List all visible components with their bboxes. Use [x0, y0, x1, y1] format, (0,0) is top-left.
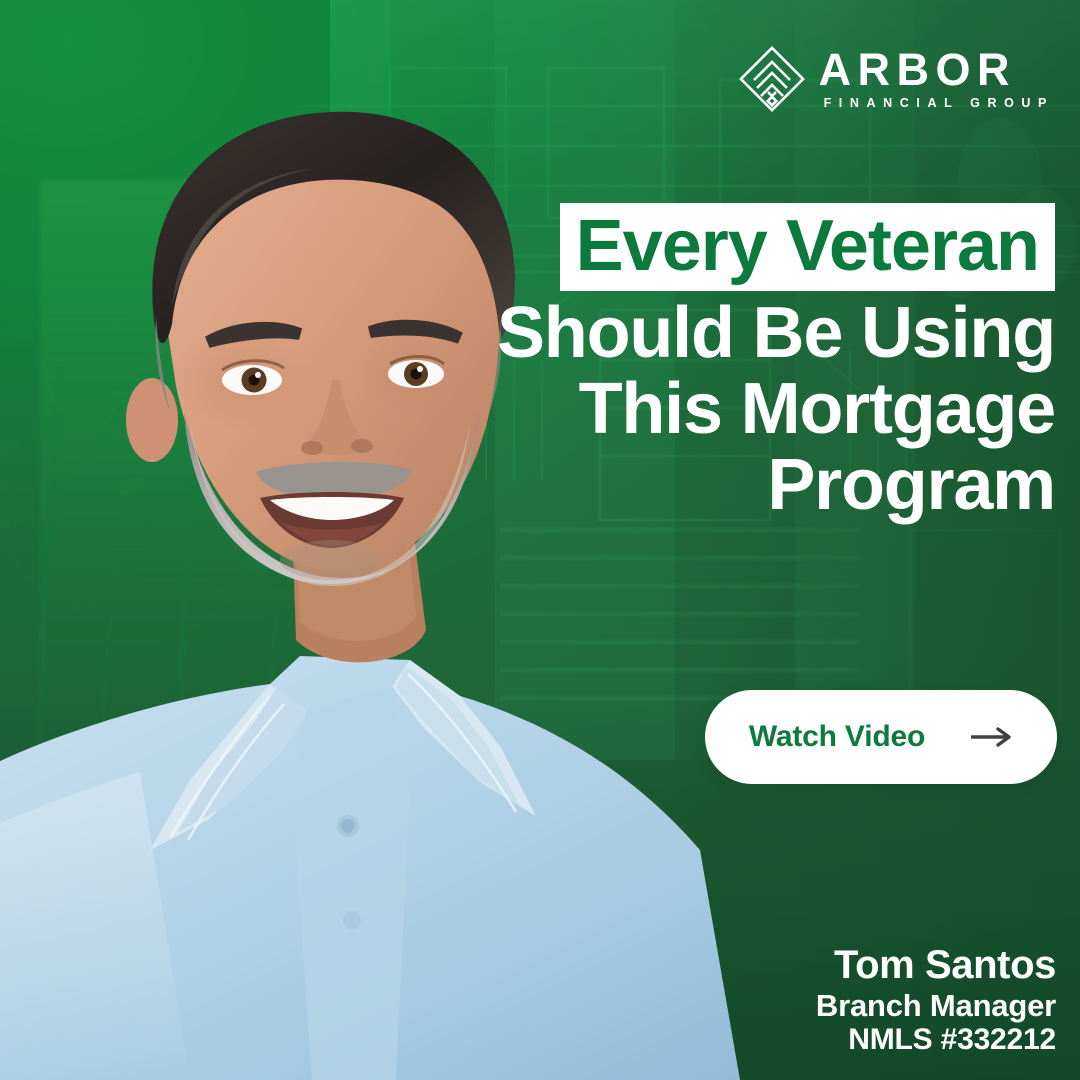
headline-lines-rest: Should Be Using This Mortgage Program	[415, 297, 1055, 521]
headline-line-2: Should Be Using	[415, 297, 1055, 369]
headline-line-1-wrap: Every Veteran	[415, 203, 1055, 291]
arbor-diamond-chevron-icon	[739, 46, 805, 112]
agent-name: Tom Santos	[816, 943, 1056, 988]
headline-line-4: Program	[415, 449, 1055, 521]
watch-video-label: Watch Video	[749, 720, 925, 754]
agent-nmls-number: NMLS #332212	[816, 1023, 1056, 1058]
agent-role: Branch Manager	[816, 988, 1056, 1023]
logo-name: ARBOR	[819, 48, 1054, 91]
social-promo-card: 3241	[0, 0, 1080, 1080]
agent-portrait-photo	[0, 20, 780, 1080]
logo-tagline: FINANCIAL GROUP	[819, 97, 1054, 110]
arrow-right-icon	[971, 726, 1013, 748]
headline: Every Veteran Should Be Using This Mortg…	[415, 203, 1055, 521]
arbor-logo[interactable]: ARBOR FINANCIAL GROUP	[739, 46, 1054, 112]
logo-wordmark: ARBOR FINANCIAL GROUP	[819, 48, 1054, 110]
watch-video-button[interactable]: Watch Video	[705, 690, 1057, 784]
agent-info-block: Tom Santos Branch Manager NMLS #332212	[816, 943, 1056, 1058]
headline-line-3: This Mortgage	[415, 373, 1055, 445]
headline-line-1: Every Veteran	[560, 203, 1055, 291]
